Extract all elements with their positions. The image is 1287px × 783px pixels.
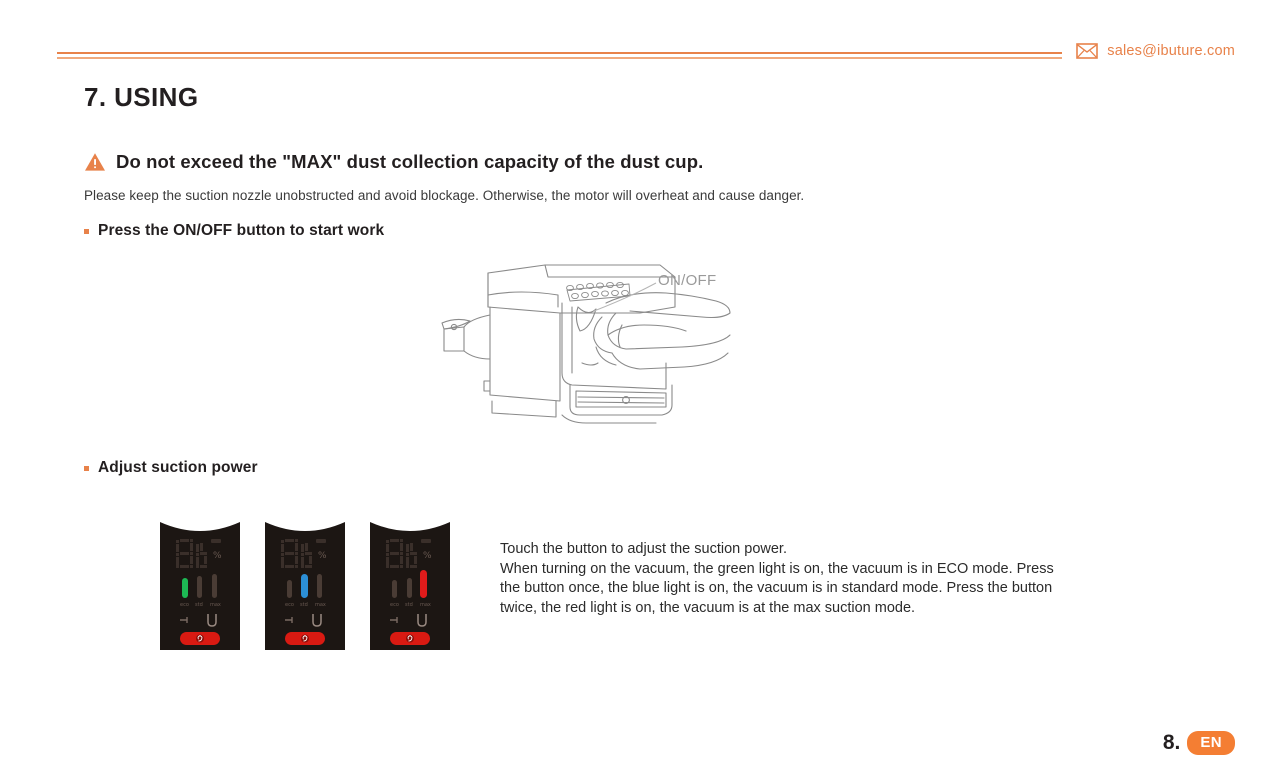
panel-standard-mode: % ecostdmax: [265, 510, 345, 650]
language-badge: EN: [1187, 731, 1235, 755]
onoff-callout-label: ON/OFF: [658, 272, 716, 289]
svg-text:max: max: [420, 602, 431, 608]
page-footer: 8. EN: [1163, 731, 1235, 755]
panel-max-display: % ecostdmax: [370, 510, 450, 650]
bullet-item-press-onoff: Press the ON/OFF button to start work: [84, 222, 384, 240]
contact-email-block: sales@ibuture.com: [1076, 43, 1235, 59]
header-divider-rule: [57, 52, 1062, 59]
panel-max-mode: % ecostdmax: [370, 510, 450, 650]
svg-text:max: max: [315, 602, 326, 608]
svg-text:%: %: [213, 551, 222, 561]
svg-text:eco: eco: [180, 602, 189, 608]
svg-text:std: std: [300, 602, 308, 608]
svg-text:%: %: [423, 551, 432, 561]
svg-text:std: std: [405, 602, 413, 608]
manual-page: sales@ibuture.com 7. USING Do not exceed…: [0, 0, 1287, 783]
bullet-label: Adjust suction power: [98, 459, 258, 477]
desc-line-1: Touch the button to adjust the suction p…: [500, 540, 1140, 560]
suction-description-text: Touch the button to adjust the suction p…: [500, 540, 1140, 618]
svg-text:eco: eco: [390, 602, 399, 608]
page-number: 8.: [1163, 731, 1181, 755]
bullet-square-icon: [84, 466, 89, 471]
header-rule-line-top: [57, 52, 1062, 54]
header-rule-line-bottom: [57, 57, 1062, 59]
contact-email-text: sales@ibuture.com: [1107, 43, 1235, 59]
warning-banner: Do not exceed the "MAX" dust collection …: [84, 151, 703, 173]
bullet-item-adjust-suction: Adjust suction power: [84, 459, 258, 477]
svg-text:std: std: [195, 602, 203, 608]
desc-line-2: When turning on the vacuum, the green li…: [500, 560, 1140, 580]
svg-text:eco: eco: [285, 602, 294, 608]
warning-note-text: Please keep the suction nozzle unobstruc…: [84, 188, 804, 203]
warning-text: Do not exceed the "MAX" dust collection …: [116, 151, 703, 173]
suction-mode-panel-group: % ecostdmax: [160, 510, 450, 650]
page-title: 7. USING: [84, 82, 198, 113]
desc-line-4: twice, the red light is on, the vacuum i…: [500, 599, 1140, 619]
svg-text:%: %: [318, 551, 327, 561]
panel-standard-display: % ecostdmax: [265, 510, 345, 650]
warning-triangle-icon: [84, 152, 106, 172]
svg-text:max: max: [210, 602, 221, 608]
envelope-icon: [1076, 43, 1098, 59]
desc-line-3: the button once, the blue light is on, t…: [500, 579, 1140, 599]
bullet-square-icon: [84, 229, 89, 234]
panel-eco-display: % ecostdmax: [160, 510, 240, 650]
bullet-label: Press the ON/OFF button to start work: [98, 222, 384, 240]
panel-eco-mode: % ecostdmax: [160, 510, 240, 650]
